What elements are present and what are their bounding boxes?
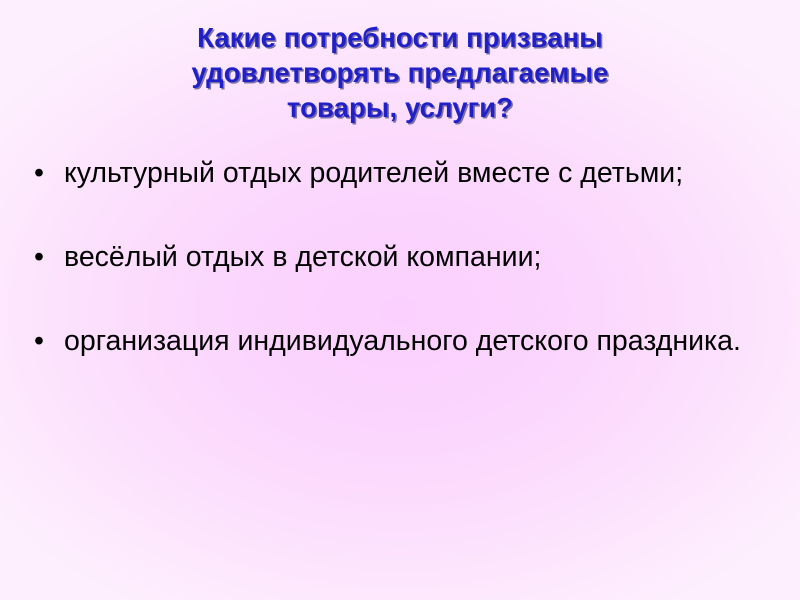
title-line-1: Какие потребности призваны: [90, 20, 710, 55]
bullet-item-text: весёлый отдых в детской компании;: [64, 236, 736, 278]
bullet-dot-icon: •: [34, 320, 64, 362]
bullet-list-item: • организация индивидуального детского п…: [34, 320, 774, 362]
bullet-dot-icon: •: [34, 236, 64, 278]
slide-title: Какие потребности призваны удовлетворять…: [90, 20, 710, 125]
bullet-dot-icon: •: [34, 152, 64, 194]
title-line-3: товары, услуги?: [90, 90, 710, 125]
slide-canvas: Какие потребности призваны удовлетворять…: [0, 0, 800, 600]
title-line-2: удовлетворять предлагаемые: [90, 55, 710, 90]
bullet-list-item: • культурный отдых родителей вместе с де…: [34, 152, 774, 194]
bullet-item-text: культурный отдых родителей вместе с деть…: [64, 152, 724, 194]
bullet-item-text: организация индивидуального детского пра…: [64, 320, 764, 362]
slide-body: • культурный отдых родителей вместе с де…: [34, 152, 774, 362]
bullet-list-item: • весёлый отдых в детской компании;: [34, 236, 774, 278]
